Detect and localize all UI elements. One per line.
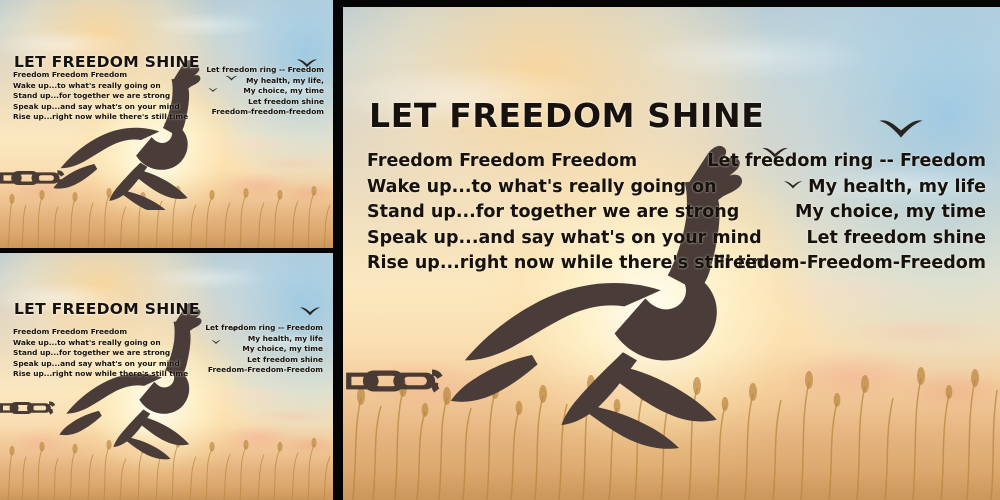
lyric-line: My choice, my time bbox=[205, 344, 323, 355]
page-title: LET FREEDOM SHINE bbox=[14, 53, 200, 71]
lyric-line: My health, my life bbox=[205, 334, 323, 345]
lyric-line: Wake up...to what's really going on bbox=[13, 81, 188, 92]
bird-icon bbox=[877, 115, 925, 141]
lyric-line: Let freedom ring -- Freedom bbox=[205, 323, 323, 334]
lyric-line: Let freedom shine bbox=[205, 355, 323, 366]
lyric-line: Let freedom shine bbox=[707, 226, 986, 252]
lyric-line: My choice, my time bbox=[707, 200, 986, 226]
lyric-line: My choice, my time bbox=[206, 86, 324, 97]
bird-icon bbox=[299, 305, 321, 317]
lyrics-right-column: Let freedom ring -- Freedom My health, m… bbox=[205, 323, 323, 376]
thumbnail-top[interactable]: LET FREEDOM SHINE Freedom Freedom Freedo… bbox=[0, 0, 333, 248]
lyrics-left-column: Freedom Freedom Freedom Wake up...to wha… bbox=[13, 327, 188, 380]
horizontal-divider bbox=[0, 248, 333, 253]
top-divider bbox=[343, 0, 1000, 7]
vertical-divider bbox=[333, 0, 343, 500]
lyric-line: My health, my life bbox=[707, 175, 986, 201]
lyric-line: Rise up...right now while there's still … bbox=[13, 369, 188, 380]
page-title: LET FREEDOM SHINE bbox=[369, 96, 764, 135]
lyric-line: Freedom Freedom Freedom bbox=[13, 327, 188, 338]
lyric-line: Speak up...and say what's on your mind bbox=[13, 102, 188, 113]
lyric-line: Rise up...right now while there's still … bbox=[13, 112, 188, 123]
lyric-line: Stand up...for together we are strong bbox=[13, 91, 188, 102]
lyric-line: Wake up...to what's really going on bbox=[13, 338, 188, 349]
lyric-line: Freedom-freedom-freedom bbox=[206, 107, 324, 118]
lyric-line: Freedom Freedom Freedom bbox=[13, 70, 188, 81]
lyric-line: Freedom-Freedom-Freedom bbox=[205, 365, 323, 376]
lyric-line: Stand up...for together we are strong bbox=[13, 348, 188, 359]
lyric-line: Freedom-Freedom-Freedom bbox=[707, 251, 986, 277]
thumbnail-bottom[interactable]: LET FREEDOM SHINE Freedom Freedom Freedo… bbox=[0, 253, 333, 500]
main-poster-panel[interactable]: LET FREEDOM SHINE Freedom Freedom Freedo… bbox=[343, 7, 1000, 500]
lyric-line: Speak up...and say what's on your mind bbox=[13, 359, 188, 370]
lyric-line: Let freedom ring -- Freedom bbox=[707, 149, 986, 175]
poster-collage: LET FREEDOM SHINE Freedom Freedom Freedo… bbox=[0, 0, 1000, 500]
page-title: LET FREEDOM SHINE bbox=[14, 300, 200, 318]
lyrics-right-column: Let freedom ring -- Freedom My health, m… bbox=[206, 65, 324, 118]
lyrics-left-column: Freedom Freedom Freedom Wake up...to wha… bbox=[13, 70, 188, 123]
lyric-line: My health, my life, bbox=[206, 76, 324, 87]
lyrics-right-column: Let freedom ring -- Freedom My health, m… bbox=[707, 149, 986, 277]
lyric-line: Let freedom ring -- Freedom bbox=[206, 65, 324, 76]
lyric-line: Let freedom shine bbox=[206, 97, 324, 108]
